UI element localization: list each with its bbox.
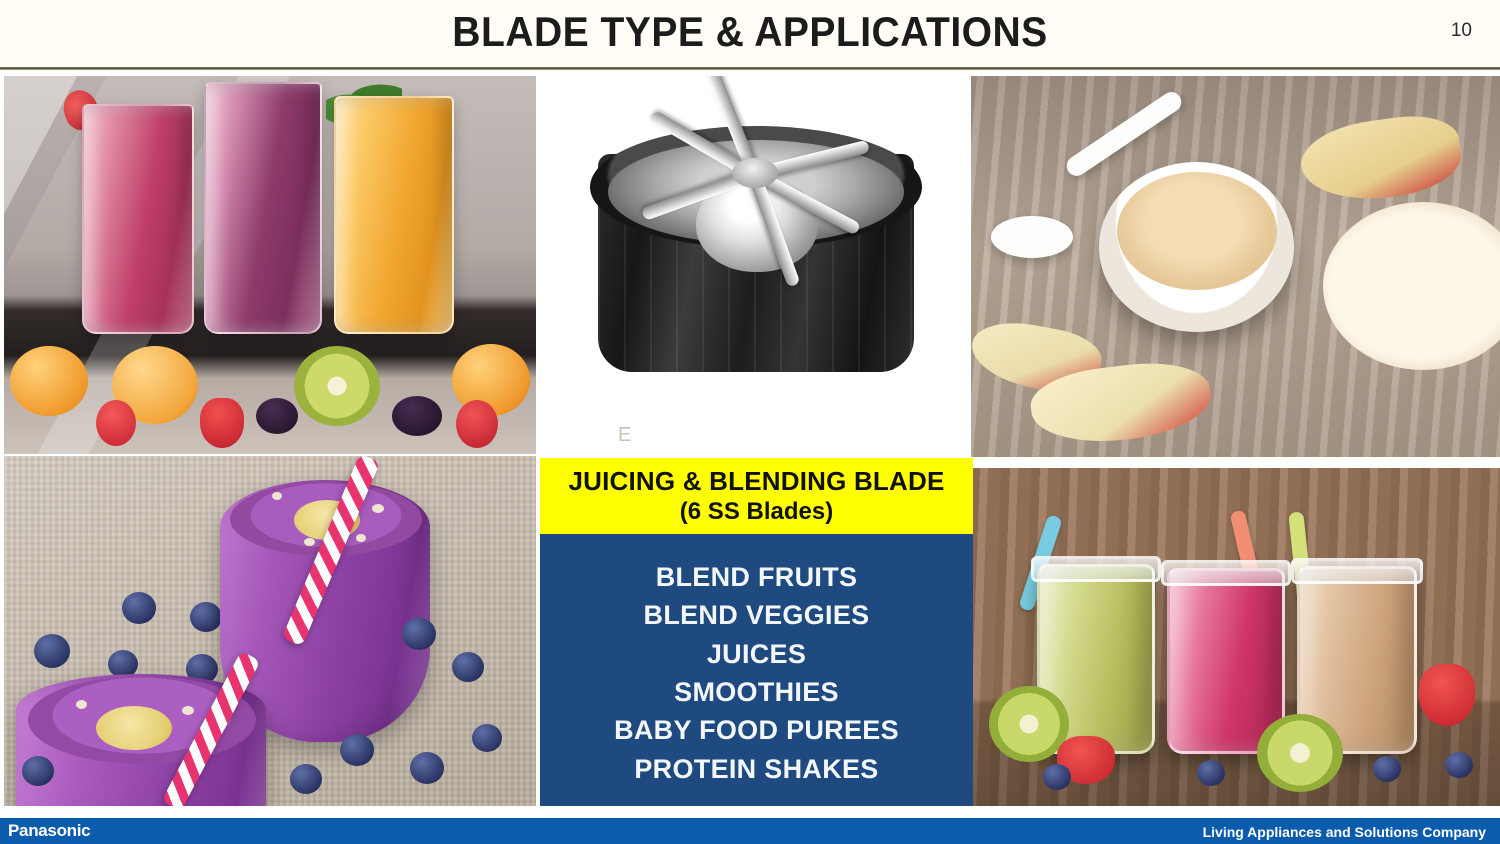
blueberry-icon — [1043, 764, 1071, 790]
jar-lid-icon — [1161, 560, 1291, 586]
blueberry-icon — [1373, 756, 1401, 782]
image-baby-food-puree — [971, 76, 1500, 457]
banana-slice-icon — [96, 706, 172, 750]
blade-caption-banner: JUICING & BLENDING BLADE (6 SS Blades) — [540, 458, 973, 534]
kiwi-slice-icon — [294, 346, 380, 426]
blueberry-icon — [340, 734, 374, 766]
applications-panel: BLEND FRUITS BLEND VEGGIES JUICES SMOOTH… — [540, 534, 973, 806]
image-smoothie-glasses — [4, 76, 536, 454]
smoothie-glass-orange — [334, 96, 454, 334]
blueberry-icon — [402, 618, 436, 650]
smoothie-glass-purple — [204, 82, 322, 334]
blueberry-icon — [190, 602, 222, 632]
oat-flake-icon — [356, 534, 366, 542]
oat-flake-icon — [76, 700, 87, 709]
caption-line-1: JUICING & BLENDING BLADE — [568, 467, 944, 496]
application-item: BLEND VEGGIES — [644, 596, 870, 634]
blueberry-icon — [22, 756, 54, 786]
oat-flake-icon — [304, 538, 315, 546]
jar-lid-icon — [1031, 556, 1161, 582]
blueberry-icon — [472, 724, 502, 752]
application-item: BLEND FRUITS — [656, 558, 858, 596]
blade-hub-nut — [732, 158, 778, 188]
oat-flake-icon — [182, 706, 194, 715]
blueberry-icon — [1197, 760, 1225, 786]
orange-fruit-icon — [10, 346, 88, 416]
strawberry-icon — [1419, 664, 1475, 726]
jar-lid-icon — [1291, 558, 1423, 584]
oat-flake-icon — [272, 492, 282, 500]
application-item: JUICES — [707, 635, 806, 673]
image-blade-assembly: E — [540, 76, 973, 456]
application-item: SMOOTHIES — [674, 673, 839, 711]
page-number: 10 — [1451, 20, 1472, 42]
footer-tagline: Living Appliances and Solutions Company — [1203, 824, 1486, 840]
blueberry-icon — [1445, 752, 1473, 778]
oat-flake-icon — [372, 504, 384, 513]
strawberry-icon — [200, 398, 244, 448]
strawberry-icon — [96, 400, 136, 446]
smoothie-glass-pink — [82, 104, 194, 334]
slide-footer: Panasonic Living Appliances and Solution… — [0, 818, 1500, 844]
blueberry-icon — [452, 652, 484, 682]
watermark-letter: E — [618, 424, 631, 447]
kiwi-slice-icon — [1257, 714, 1343, 792]
image-jar-smoothies — [971, 468, 1500, 806]
blueberry-icon — [290, 764, 322, 794]
caption-line-2: (6 SS Blades) — [680, 499, 833, 525]
application-item: BABY FOOD PUREES — [614, 711, 899, 749]
apple-puree — [1117, 172, 1277, 290]
blueberry-icon — [34, 634, 70, 668]
title-divider — [0, 67, 1500, 70]
slide-content: E JUICING & BLENDING BLADE — [0, 76, 1500, 806]
page-title: BLADE TYPE & APPLICATIONS — [53, 8, 1448, 56]
blueberry-icon — [410, 752, 444, 784]
panasonic-logo: Panasonic — [8, 821, 90, 841]
blackberry-icon — [392, 396, 442, 436]
image-purple-smoothie — [4, 456, 536, 806]
spoon-icon — [991, 216, 1073, 258]
blade-product — [580, 96, 932, 396]
application-item: PROTEIN SHAKES — [634, 750, 878, 788]
strawberry-icon — [456, 400, 498, 448]
slide-header: BLADE TYPE & APPLICATIONS 10 — [0, 0, 1500, 68]
blackberry-icon — [256, 398, 298, 434]
blueberry-icon — [122, 592, 156, 624]
